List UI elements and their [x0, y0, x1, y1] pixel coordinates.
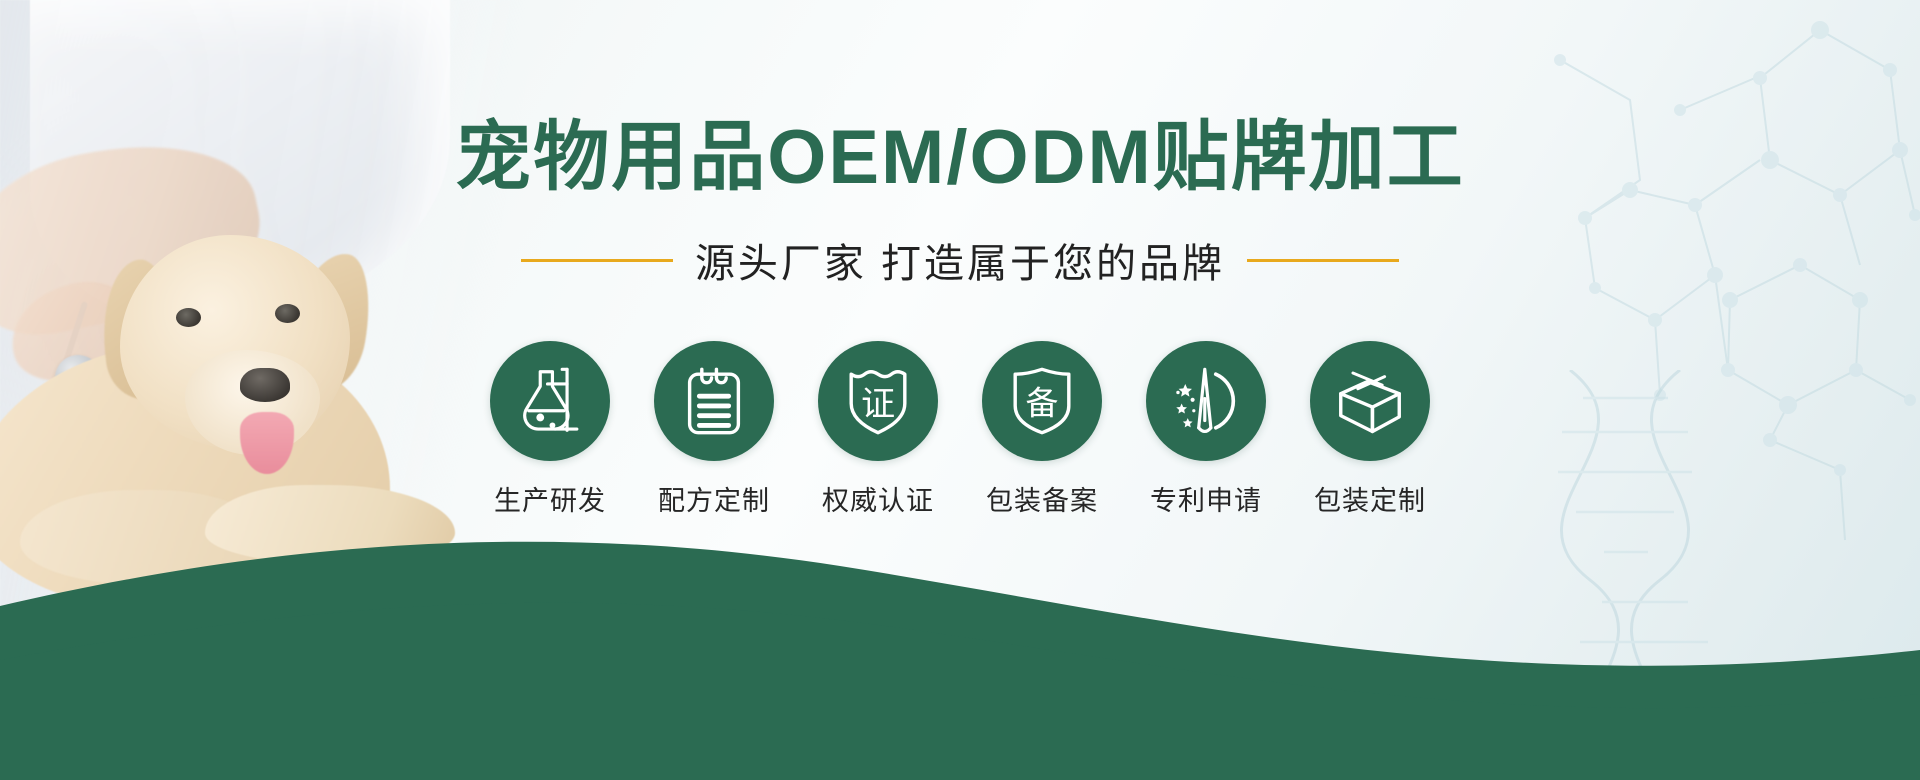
feature-item-packaging-filing[interactable]: 备 包装备案 [982, 341, 1102, 518]
svg-text:备: 备 [1026, 384, 1059, 421]
divider-left [521, 259, 673, 262]
subtitle-row: 源头厂家 打造属于您的品牌 [521, 231, 1399, 289]
feature-item-packaging-custom[interactable]: 包装定制 [1310, 341, 1430, 518]
feature-item-patent-application[interactable]: 专利申请 [1146, 341, 1266, 518]
shield-bei-icon: 备 [982, 341, 1102, 461]
feature-item-production-rd[interactable]: 生产研发 [490, 341, 610, 518]
shield-zheng-icon: 证 [818, 341, 938, 461]
page-subtitle: 源头厂家 打造属于您的品牌 [695, 231, 1225, 289]
bottom-wave [0, 510, 1920, 780]
divider-right [1247, 259, 1399, 262]
flask-stand-icon [490, 341, 610, 461]
patent-pen-stars-icon [1146, 341, 1266, 461]
clipboard-icon [654, 341, 774, 461]
feature-item-formula-custom[interactable]: 配方定制 [654, 341, 774, 518]
page-title: 宠物用品OEM/ODM贴牌加工 [455, 95, 1465, 205]
feature-item-authority-certification[interactable]: 证 权威认证 [818, 341, 938, 518]
svg-text:证: 证 [861, 386, 895, 424]
feature-list: 生产研发 配方定制 [490, 341, 1430, 518]
open-box-icon [1310, 341, 1430, 461]
pet-oem-banner: 宠物用品OEM/ODM贴牌加工 源头厂家 打造属于您的品牌 [0, 0, 1920, 780]
